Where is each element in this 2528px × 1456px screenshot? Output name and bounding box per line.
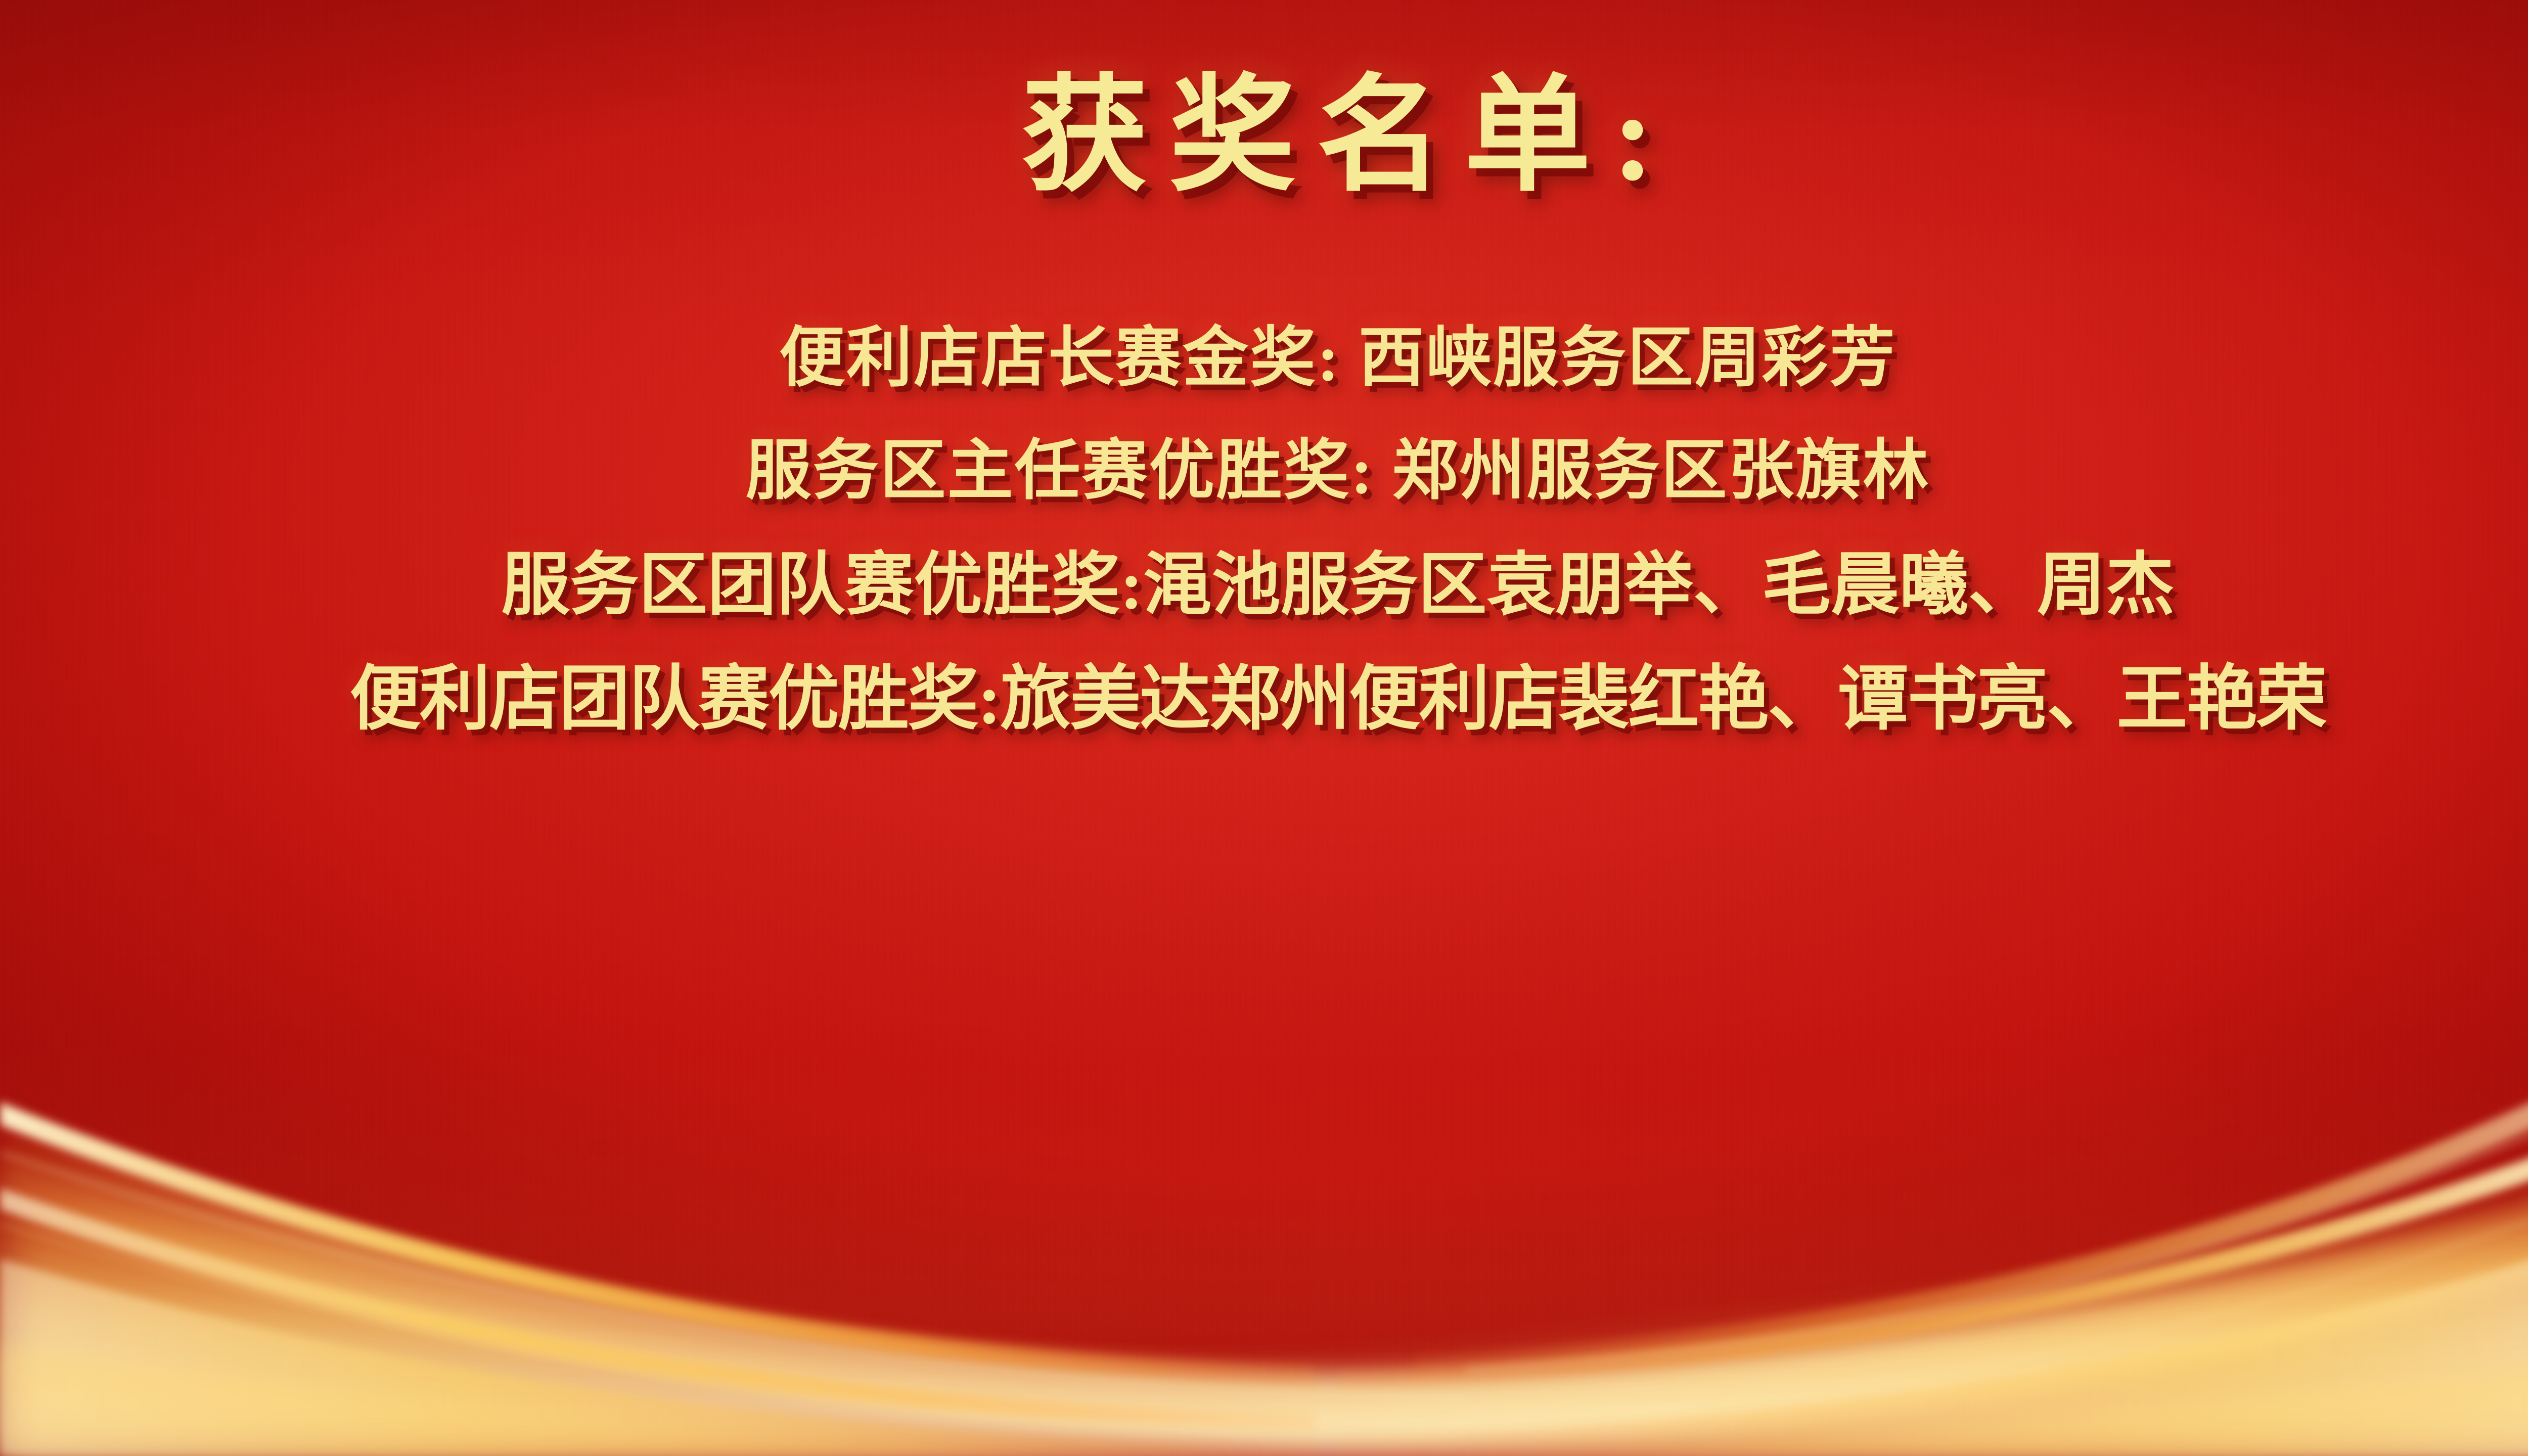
poster-content: 获奖名单: 便利店店长赛金奖: 西峡服务区周彩芳 服务区主任赛优胜奖: 郑州服务… — [0, 0, 2528, 1456]
award-list: 便利店店长赛金奖: 西峡服务区周彩芳 服务区主任赛优胜奖: 郑州服务区张旗林 服… — [0, 326, 2528, 735]
award-row-convenience-store-team: 便利店团队赛优胜奖:旅美达郑州便利店裴红艳、谭书亮、王艳荣 — [0, 664, 2528, 735]
award-row-service-area-director: 服务区主任赛优胜奖: 郑州服务区张旗林 — [0, 438, 2528, 504]
page-title: 获奖名单: — [1000, 71, 1675, 204]
award-row-store-manager-gold: 便利店店长赛金奖: 西峡服务区周彩芳 — [0, 326, 2528, 391]
poster-canvas: 获奖名单: 便利店店长赛金奖: 西峡服务区周彩芳 服务区主任赛优胜奖: 郑州服务… — [0, 0, 2528, 1456]
award-row-service-area-team: 服务区团队赛优胜奖:渑池服务区袁朋举、毛晨曦、周杰 — [0, 551, 2528, 620]
